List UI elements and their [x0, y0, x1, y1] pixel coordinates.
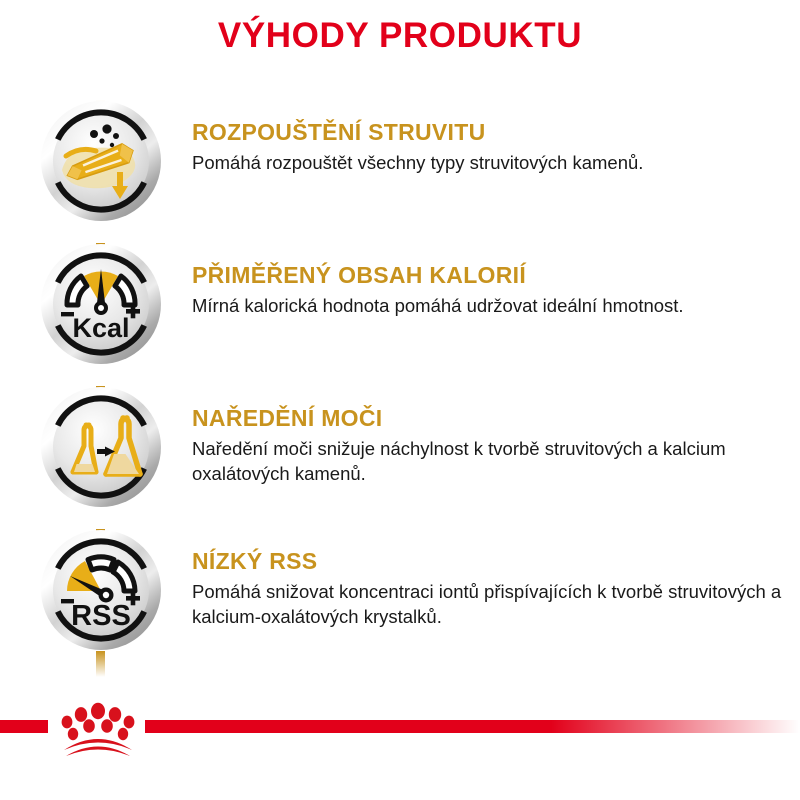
benefit-heading: ROZPOUŠTĚNÍ STRUVITU — [192, 120, 643, 145]
benefit-heading: PŘIMĚŘENÝ OBSAH KALORIÍ — [192, 263, 684, 288]
royal-canin-crown-logo — [52, 698, 144, 756]
benefit-item-low-rss: RSS NÍZKÝ RSS Pomáhá snižovat koncentrac… — [0, 529, 800, 672]
benefit-text-block: PŘIMĚŘENÝ OBSAH KALORIÍ Mírná kalorická … — [192, 243, 684, 319]
benefit-item-struvite-dissolution: ROZPOUŠTĚNÍ STRUVITU Pomáhá rozpouštět v… — [0, 100, 800, 243]
benefit-body: Mírná kalorická hodnota pomáhá udržovat … — [192, 294, 684, 319]
footer-bar-left — [0, 720, 48, 733]
benefit-heading: NÍZKÝ RSS — [192, 549, 782, 574]
struvite-dissolution-icon — [40, 100, 162, 222]
kcal-gauge-label: Kcal — [72, 313, 129, 343]
benefit-text-block: NÍZKÝ RSS Pomáhá snižovat koncentraci io… — [192, 529, 782, 629]
rss-gauge-icon: RSS — [40, 529, 162, 651]
footer-bar-right — [145, 720, 800, 733]
benefit-body: Pomáhá snižovat koncentraci iontů přispí… — [192, 580, 782, 629]
urine-dilution-flasks-icon — [40, 386, 162, 508]
benefit-item-calorie-content: Kcal PŘIMĚŘENÝ OBSAH KALORIÍ Mírná kalor… — [0, 243, 800, 386]
benefit-body: Pomáhá rozpouštět všechny typy struvitov… — [192, 151, 643, 176]
footer — [0, 698, 800, 758]
kcal-gauge-icon: Kcal — [40, 243, 162, 365]
connector-line-bottom — [96, 651, 105, 677]
benefits-list: ROZPOUŠTĚNÍ STRUVITU Pomáhá rozpouštět v… — [0, 100, 800, 672]
benefit-heading: NAŘEDĚNÍ MOČI — [192, 406, 782, 431]
rss-gauge-label: RSS — [71, 600, 131, 632]
page-title: VÝHODY PRODUKTU — [0, 18, 800, 53]
benefit-item-urine-dilution: NAŘEDĚNÍ MOČI Naředění moči snižuje nách… — [0, 386, 800, 529]
benefit-text-block: NAŘEDĚNÍ MOČI Naředění moči snižuje nách… — [192, 386, 782, 486]
benefit-text-block: ROZPOUŠTĚNÍ STRUVITU Pomáhá rozpouštět v… — [192, 100, 643, 176]
benefit-body: Naředění moči snižuje náchylnost k tvorb… — [192, 437, 782, 486]
